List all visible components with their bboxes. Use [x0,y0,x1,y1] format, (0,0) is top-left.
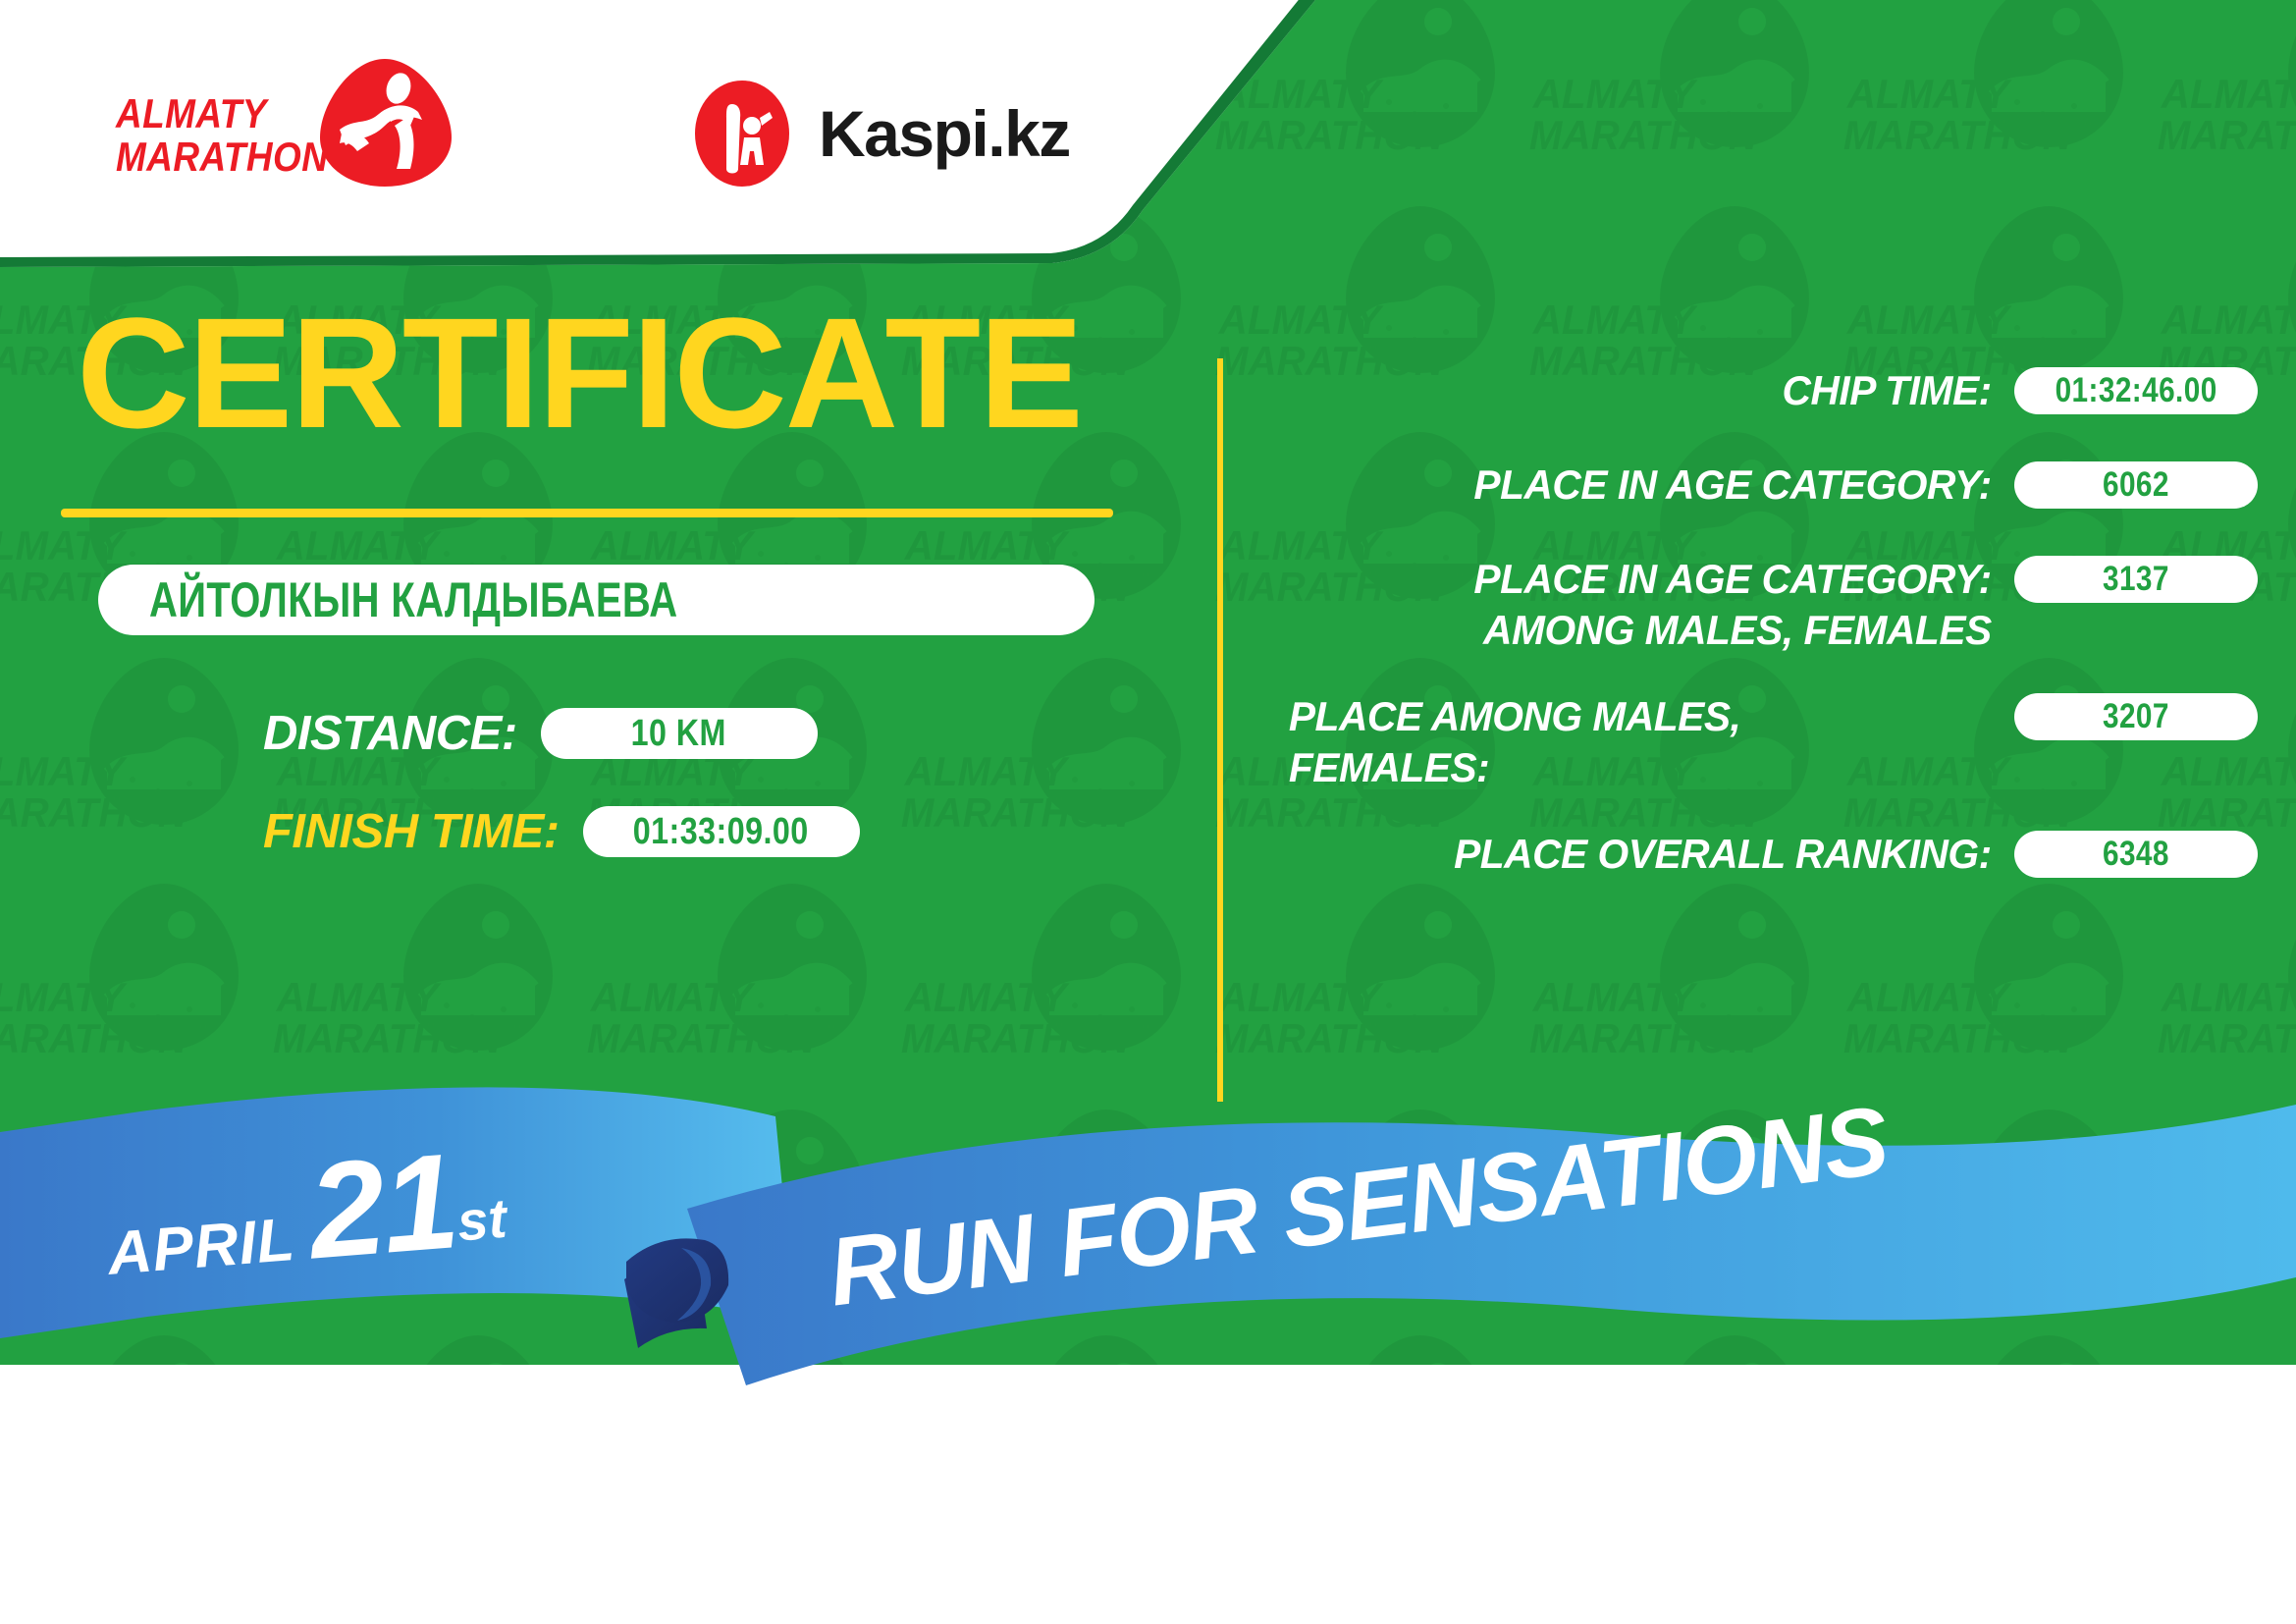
title-divider-rule [61,509,1113,517]
distance-label: DISTANCE: [263,706,517,761]
certificate-title: CERTIFICATE [77,295,1217,452]
almaty-line: ALMATY [116,92,328,135]
finish-time-label: FINISH TIME: [263,804,560,859]
participant-name: АЙТОЛКЫН КАЛДЫБАЕВА [149,571,678,628]
ribbon-date: APRIL 21st [100,1119,511,1306]
almaty-marathon-wordmark: ALMATY MARATHON [116,92,328,179]
ribbon-ordinal: st [455,1187,509,1253]
ribbon-day: 21 [303,1125,461,1287]
certificate-page: ALMATY MARATHON [0,0,2296,1624]
right-panel-stats: CHIP TIME: 01:32:46.00 PLACE IN AGE CATE… [1266,365,2258,923]
runner-droplet-icon [312,57,459,189]
left-panel: CERTIFICATE АЙТОЛКЫН КАЛДЫБАЕВА DISTANCE… [0,295,1217,859]
chip-time-value-pill: 01:32:46.00 [2014,367,2258,414]
chip-time-row: CHIP TIME: 01:32:46.00 [1266,365,2258,424]
chip-time-value: 01:32:46.00 [2055,371,2216,410]
place-age-category-gender-label: PLACE IN AGE CATEGORY: AMONG MALES, FEMA… [1289,554,2014,656]
place-age-category-label: PLACE IN AGE CATEGORY: [1289,460,2014,511]
place-overall-value: 6348 [2103,835,2169,874]
almaty-marathon-logo: ALMATY MARATHON [116,57,430,204]
participant-name-field: АЙТОЛКЫН КАЛДЫБАЕВА [98,565,1095,635]
place-among-gender-value: 3207 [2103,697,2169,736]
kaspi-wordmark: Kaspi.kz [819,96,1070,171]
place-among-gender-label: PLACE AMONG MALES, FEMALES: [1289,691,2014,793]
chip-time-label: CHIP TIME: [1289,365,2014,416]
kaspi-people-icon [687,79,797,189]
ribbon-month: APRIL [105,1205,314,1288]
finish-time-value: 01:33:09.00 [633,811,809,853]
distance-value: 10 KM [631,713,726,755]
place-overall-row: PLACE OVERALL RANKING: 6348 [1266,829,2258,888]
finish-time-value-pill: 01:33:09.00 [583,806,860,857]
place-overall-value-pill: 6348 [2014,831,2258,878]
marathon-line: MARATHON [116,135,328,179]
place-age-category-value-pill: 6062 [2014,461,2258,509]
header-logos: ALMATY MARATHON Kaspi.kz [0,0,1178,267]
place-age-category-row: PLACE IN AGE CATEGORY: 6062 [1266,460,2258,518]
vertical-divider [1217,358,1223,1102]
sponsor-bar [0,1406,2296,1624]
place-among-gender-value-pill: 3207 [2014,693,2258,740]
kaspi-logo: Kaspi.kz [687,79,1070,189]
place-age-category-gender-value-pill: 3137 [2014,556,2258,603]
place-overall-label: PLACE OVERALL RANKING: [1289,829,2014,880]
finish-time-row: FINISH TIME: 01:33:09.00 [0,804,1217,859]
place-age-category-gender-value: 3137 [2103,560,2169,599]
place-age-category-value: 6062 [2103,465,2169,505]
distance-value-pill: 10 KM [541,708,818,759]
distance-row: DISTANCE: 10 KM [0,706,1217,761]
place-among-gender-row: PLACE AMONG MALES, FEMALES: 3207 [1266,691,2258,793]
place-age-category-gender-row: PLACE IN AGE CATEGORY: AMONG MALES, FEMA… [1266,554,2258,656]
